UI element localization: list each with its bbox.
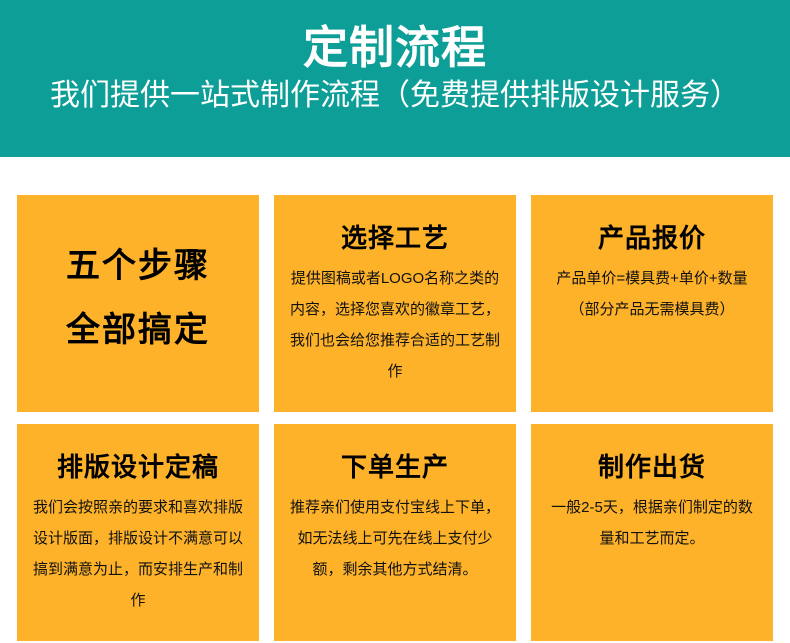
step-card-body: 产品单价=模具费+单价+数量（部分产品无需模具费） (543, 263, 761, 325)
step-card-title: 制作出货 (543, 450, 761, 484)
step-card-title: 产品报价 (543, 221, 761, 255)
step-card-body: 一般2-5天，根据亲们制定的数量和工艺而定。 (543, 492, 761, 554)
step-card-title: 选择工艺 (286, 221, 504, 255)
step-card-highlight: 五个步骤 全部搞定 (17, 195, 259, 412)
highlight-line-1: 五个步骤 (29, 247, 247, 285)
step-card-order-production: 下单生产 推荐亲们使用支付宝线上下单，如无法线上可先在线上支付少额，剩余其他方式… (274, 424, 516, 641)
page-subtitle: 我们提供一站式制作流程（免费提供排版设计服务） (50, 74, 740, 118)
step-card-layout-approval: 排版设计定稿 我们会按照亲的要求和喜欢排版设计版面，排版设计不满意可以搞到满意为… (17, 424, 259, 641)
highlight-line-2: 全部搞定 (29, 311, 247, 349)
page-title: 定制流程 (303, 22, 487, 74)
step-card-product-quote: 产品报价 产品单价=模具费+单价+数量（部分产品无需模具费） (531, 195, 773, 412)
step-card-title: 下单生产 (286, 450, 504, 484)
step-card-select-craft: 选择工艺 提供图稿或者LOGO名称之类的内容，选择您喜欢的徽章工艺，我们也会给您… (274, 195, 516, 412)
step-card-body: 提供图稿或者LOGO名称之类的内容，选择您喜欢的徽章工艺，我们也会给您推荐合适的… (286, 263, 504, 387)
step-card-make-ship: 制作出货 一般2-5天，根据亲们制定的数量和工艺而定。 (531, 424, 773, 641)
step-card-body: 推荐亲们使用支付宝线上下单，如无法线上可先在线上支付少额，剩余其他方式结清。 (286, 492, 504, 585)
header-banner: 定制流程 我们提供一站式制作流程（免费提供排版设计服务） (0, 0, 790, 157)
process-step-grid: 五个步骤 全部搞定 选择工艺 提供图稿或者LOGO名称之类的内容，选择您喜欢的徽… (17, 195, 773, 641)
step-card-title: 排版设计定稿 (29, 450, 247, 484)
step-card-body: 我们会按照亲的要求和喜欢排版设计版面，排版设计不满意可以搞到满意为止，而安排生产… (29, 492, 247, 616)
custom-process-infographic: 定制流程 我们提供一站式制作流程（免费提供排版设计服务） 五个步骤 全部搞定 选… (0, 0, 790, 643)
